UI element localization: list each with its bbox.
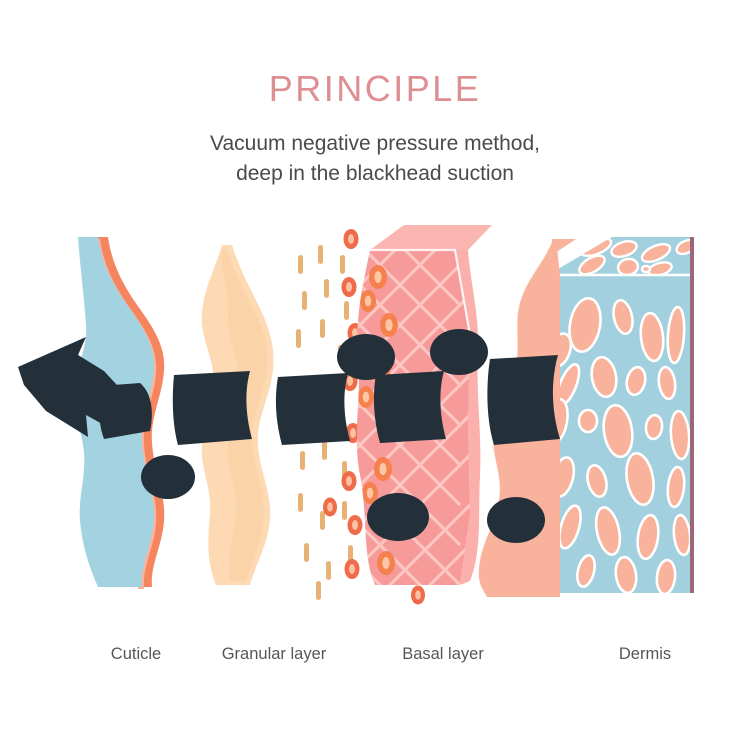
blackhead	[337, 334, 395, 380]
blackhead	[430, 329, 488, 375]
layer-labels: Cuticle Granular layer Basal layer Dermi…	[0, 645, 750, 675]
infographic-page: PRINCIPLE Vacuum negative pressure metho…	[0, 0, 750, 750]
subtitle-line-1: Vacuum negative pressure method,	[210, 132, 540, 155]
basal-top-face	[370, 225, 492, 250]
subtitle-line-2: deep in the blackhead suction	[0, 159, 750, 189]
header: PRINCIPLE Vacuum negative pressure metho…	[0, 0, 750, 189]
arrow-segment-3	[276, 373, 350, 445]
blackhead	[141, 455, 195, 499]
layer-label-basal: Basal layer	[402, 645, 484, 664]
skin-cross-section-diagram	[0, 225, 750, 625]
blackhead	[367, 493, 429, 541]
blackhead	[487, 497, 545, 543]
layer-label-cuticle: Cuticle	[111, 645, 161, 664]
arrow-segment-4	[374, 371, 446, 443]
layer-label-granular: Granular layer	[222, 645, 327, 664]
arrow-segment-5	[487, 355, 560, 445]
page-subtitle: Vacuum negative pressure method, deep in…	[0, 110, 750, 189]
dermis-top-left-cover	[552, 239, 576, 255]
layer-label-dermis: Dermis	[619, 645, 671, 664]
arrow-segment-2	[173, 371, 252, 445]
page-title: PRINCIPLE	[0, 0, 750, 110]
arrow-segment-1	[99, 383, 152, 439]
